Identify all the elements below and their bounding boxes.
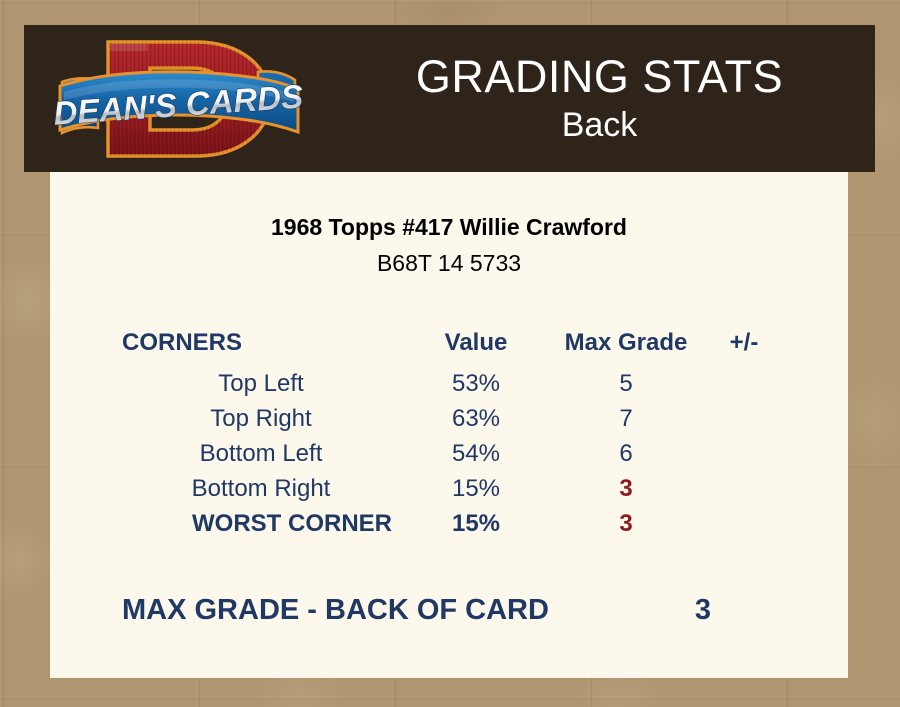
row-label: WORST CORNER xyxy=(116,506,406,541)
header-band: DEAN'S CARDS GRADING STATS Back xyxy=(24,25,875,172)
row-max-grade: 7 xyxy=(546,401,706,436)
header-plus-minus: +/- xyxy=(706,325,782,360)
table-row: Bottom Right 15% 3 xyxy=(116,471,782,506)
stats-table-header: CORNERS Value Max Grade +/- xyxy=(116,325,782,366)
deans-cards-logo-icon: DEAN'S CARDS xyxy=(46,28,326,170)
header-max-grade: Max Grade xyxy=(546,325,706,360)
page-title: GRADING STATS xyxy=(416,50,783,104)
page-subtitle: Back xyxy=(562,104,638,146)
corners-stats-table: CORNERS Value Max Grade +/- Top Left 53%… xyxy=(116,325,782,541)
card-title: 1968 Topps #417 Willie Crawford xyxy=(50,213,848,242)
max-grade-summary: MAX GRADE - BACK OF CARD 3 xyxy=(116,592,782,628)
row-plus-minus xyxy=(706,471,782,506)
header-value: Value xyxy=(406,325,546,360)
row-label: Bottom Left xyxy=(116,436,406,471)
deans-cards-logo[interactable]: DEAN'S CARDS xyxy=(46,28,326,170)
row-value: 15% xyxy=(406,506,546,541)
header-corners: CORNERS xyxy=(116,325,406,360)
max-grade-summary-value: 3 xyxy=(624,592,782,628)
stats-table-body: Top Left 53% 5 Top Right 63% 7 Bottom Le… xyxy=(116,366,782,541)
row-label: Top Right xyxy=(116,401,406,436)
card-subtitle: B68T 14 5733 xyxy=(50,249,848,278)
row-plus-minus xyxy=(706,366,782,401)
row-max-grade: 6 xyxy=(546,436,706,471)
row-label: Bottom Right xyxy=(116,471,406,506)
row-max-grade: 3 xyxy=(546,506,706,541)
row-plus-minus xyxy=(706,401,782,436)
table-row: Top Left 53% 5 xyxy=(116,366,782,401)
row-max-grade: 5 xyxy=(546,366,706,401)
content-panel: 1968 Topps #417 Willie Crawford B68T 14 … xyxy=(50,172,848,678)
row-plus-minus xyxy=(706,436,782,471)
table-header-row: CORNERS Value Max Grade +/- xyxy=(116,325,782,360)
row-value: 53% xyxy=(406,366,546,401)
row-label: Top Left xyxy=(116,366,406,401)
table-row: Bottom Left 54% 6 xyxy=(116,436,782,471)
table-row: Top Right 63% 7 xyxy=(116,401,782,436)
row-value: 54% xyxy=(406,436,546,471)
row-plus-minus xyxy=(706,506,782,541)
table-row-worst-corner: WORST CORNER 15% 3 xyxy=(116,506,782,541)
row-value: 63% xyxy=(406,401,546,436)
row-max-grade: 3 xyxy=(546,471,706,506)
max-grade-summary-label: MAX GRADE - BACK OF CARD xyxy=(116,592,624,628)
row-value: 15% xyxy=(406,471,546,506)
